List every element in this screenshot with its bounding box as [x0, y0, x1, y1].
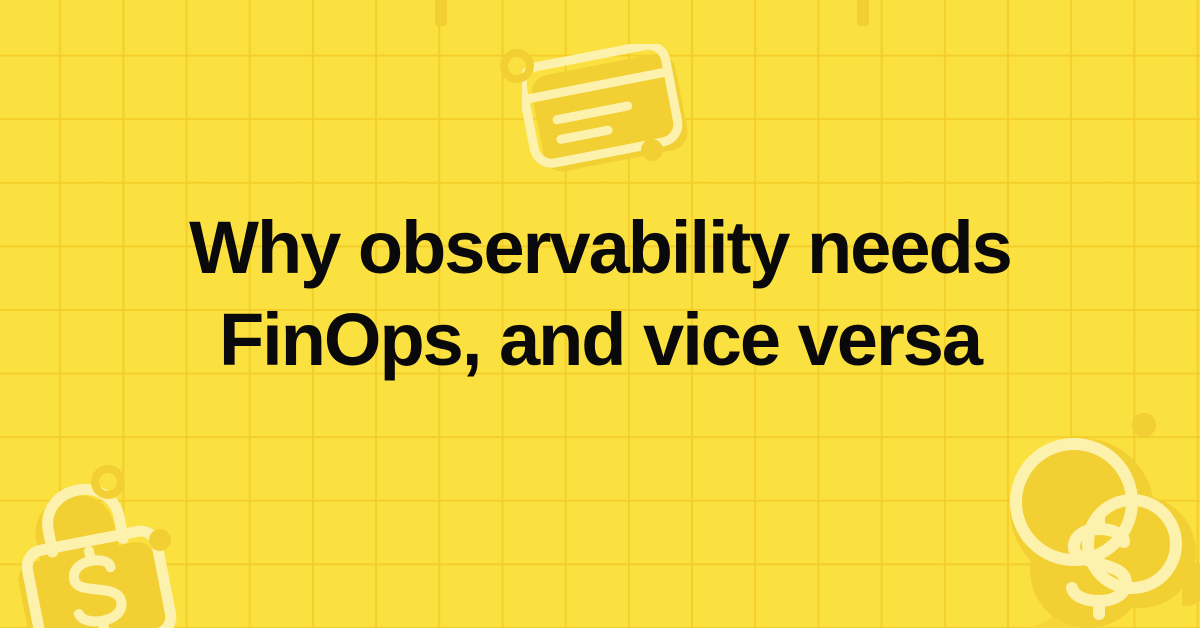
dot-bottom-left	[149, 529, 171, 551]
money-bag-lock-icon	[6, 478, 186, 628]
dot-bottom-right	[1132, 413, 1156, 437]
title-block: Why observability needs FinOps, and vice…	[0, 202, 1200, 386]
funnel-partial-left-icon	[396, 0, 486, 26]
og-share-card: Why observability needs FinOps, and vice…	[0, 0, 1200, 628]
coins-dollar-icon	[1000, 430, 1200, 628]
page-title: Why observability needs FinOps, and vice…	[60, 202, 1140, 386]
credit-card-icon	[522, 44, 692, 174]
coin-bottom-remnant-icon	[1182, 560, 1200, 606]
funnel-partial-bottom-icon	[1017, 596, 1113, 628]
dot-top-center	[641, 139, 663, 161]
ring-top-center	[500, 49, 534, 83]
funnel-partial-right-icon	[818, 0, 908, 26]
ring-bottom-left	[91, 465, 125, 499]
